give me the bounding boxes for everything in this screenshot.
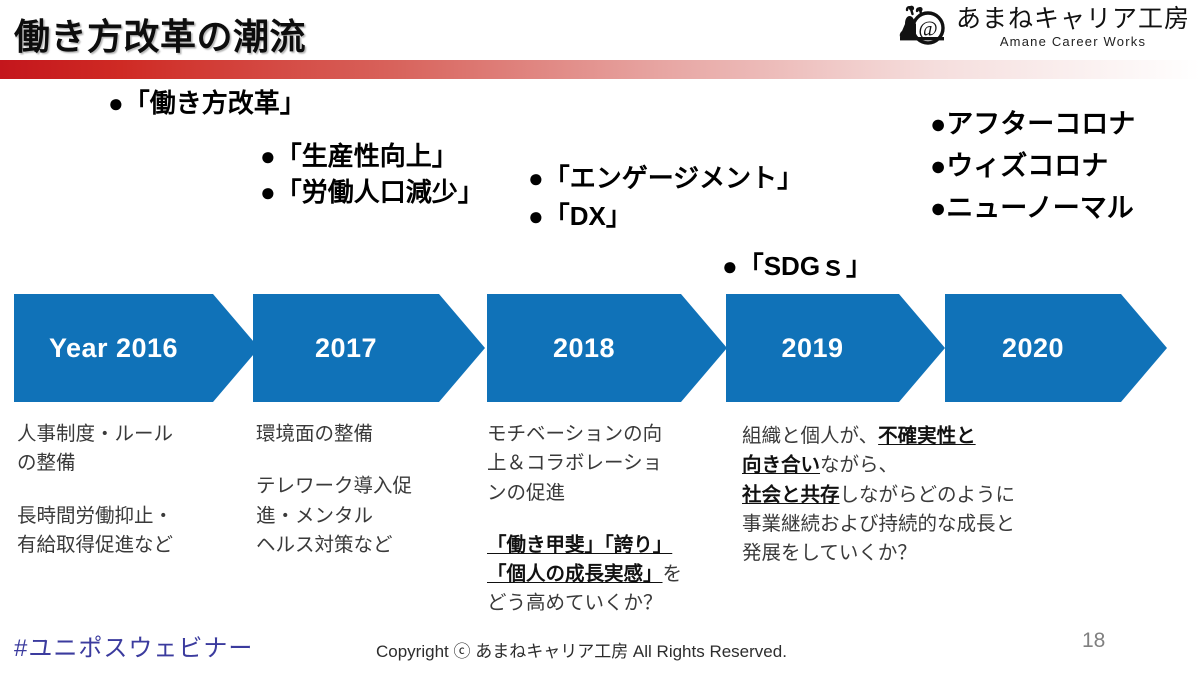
brand-logo: @ あまねキャリア工房 Amane Career Works (896, 4, 1190, 50)
column-2017: 環境面の整備テレワーク導入促進・メンタルヘルス対策など (256, 420, 486, 560)
text-run: 環境面の整備 (256, 423, 373, 445)
timeline-chevron-2018[interactable]: 2018 (487, 294, 727, 402)
keyword-seisansei-kojo: ●「生産性向上」 (260, 139, 458, 175)
text-run: 事業継続および持続的な成長と (742, 513, 1015, 535)
page-title: 働き方改革の潮流 (14, 8, 306, 60)
emphasis-text-run: 社会と共存 (742, 484, 840, 506)
paragraph-spacer (256, 449, 486, 472)
paragraph-spacer (487, 508, 737, 531)
column-paragraph: モチベーションの向上＆コラボレーションの促進 (487, 420, 737, 508)
text-run: ヘルス対策など (256, 534, 393, 556)
logo-en-text: Amane Career Works (1000, 35, 1146, 48)
keyword-hatarakikata-kaikaku: ●「働き方改革」 (108, 86, 306, 122)
column-paragraph: 長時間労働抑止・有給取得促進など (17, 502, 252, 561)
text-run: 組織と個人が、 (742, 425, 878, 447)
keyword-sdgs: ●「SDGｓ」 (722, 249, 872, 285)
logo-jp-text: あまねキャリア工房 (956, 7, 1190, 32)
text-run: モチベーションの向 (487, 423, 662, 445)
slide-root: 働き方改革の潮流 @ あまねキャリア工房 Amane Career Works … (0, 0, 1200, 675)
chevron-label: 2017 (315, 333, 377, 364)
column-2019: 組織と個人が、不確実性と向き合いながら、社会と共存しながらどのように事業継続およ… (742, 422, 1142, 568)
text-run: ながら、 (820, 454, 898, 476)
emphasis-text-run: 「個人の成長実感」 (487, 563, 663, 585)
paragraph-spacer (17, 479, 252, 502)
keyword-with-corona: ●ウィズコロナ (930, 148, 1108, 185)
text-run: 人事制度・ルール (17, 423, 173, 445)
svg-text:@: @ (918, 17, 937, 41)
column-paragraph: 人事制度・ルールの整備 (17, 420, 252, 479)
chevron-label: Year 2016 (49, 333, 178, 364)
title-accent-rule (0, 60, 1200, 79)
keyword-dx: ●「DX」 (528, 199, 632, 235)
chevron-label: 2018 (553, 333, 615, 364)
text-run: 長時間労働抑止・ (17, 505, 173, 527)
text-run: の整備 (17, 452, 76, 474)
snail-at-logo-icon: @ (896, 4, 948, 50)
column-paragraph: テレワーク導入促進・メンタルヘルス対策など (256, 472, 486, 560)
webinar-hashtag: #ユニポスウェビナー (14, 628, 253, 663)
column-paragraph: 組織と個人が、不確実性と向き合いながら、社会と共存しながらどのように事業継続およ… (742, 422, 1142, 568)
copyright-text: Copyright ⓒ あまねキャリア工房 All Rights Reserve… (376, 637, 787, 662)
text-run: を (663, 563, 683, 585)
text-run: テレワーク導入促 (256, 475, 412, 497)
keyword-rodo-jinko-gensho: ●「労働人口減少」 (260, 175, 484, 211)
text-run: どう高めていくか？ (487, 592, 663, 614)
emphasis-text-run: 不確実性と (878, 425, 976, 447)
text-run: 進・メンタル (256, 505, 373, 527)
column-paragraph: 「働き甲斐」「誇り」「個人の成長実感」をどう高めていくか？ (487, 531, 737, 619)
logo-wordmark: あまねキャリア工房 Amane Career Works (956, 7, 1190, 48)
column-2016: 人事制度・ルールの整備長時間労働抑止・有給取得促進など (17, 420, 252, 560)
text-run: 発展をしていくか？ (742, 542, 917, 564)
text-run: 有給取得促進など (17, 534, 173, 556)
timeline-chevron-2016[interactable]: Year 2016 (14, 294, 259, 402)
keyword-new-normal: ●ニューノーマル (930, 190, 1134, 227)
keyword-after-corona: ●アフターコロナ (930, 106, 1135, 143)
timeline-chevron-2017[interactable]: 2017 (253, 294, 485, 402)
emphasis-text-run: 「働き甲斐」「誇り」 (487, 534, 672, 556)
emphasis-text-run: 向き合い (742, 454, 820, 476)
column-paragraph: 環境面の整備 (256, 420, 486, 449)
page-number: 18 (1082, 629, 1105, 653)
text-run: ンの促進 (487, 482, 565, 504)
text-run: 上＆コラボレーショ (487, 452, 662, 474)
chevron-label: 2019 (781, 333, 843, 364)
text-run: しながらどのように (840, 484, 1016, 506)
chevron-label: 2020 (1002, 333, 1064, 364)
timeline-chevron-2019[interactable]: 2019 (726, 294, 945, 402)
keyword-engagement: ●「エンゲージメント」 (528, 161, 803, 197)
timeline-chevron-2020[interactable]: 2020 (945, 294, 1167, 402)
column-2018: モチベーションの向上＆コラボレーションの促進「働き甲斐」「誇り」「個人の成長実感… (487, 420, 737, 619)
